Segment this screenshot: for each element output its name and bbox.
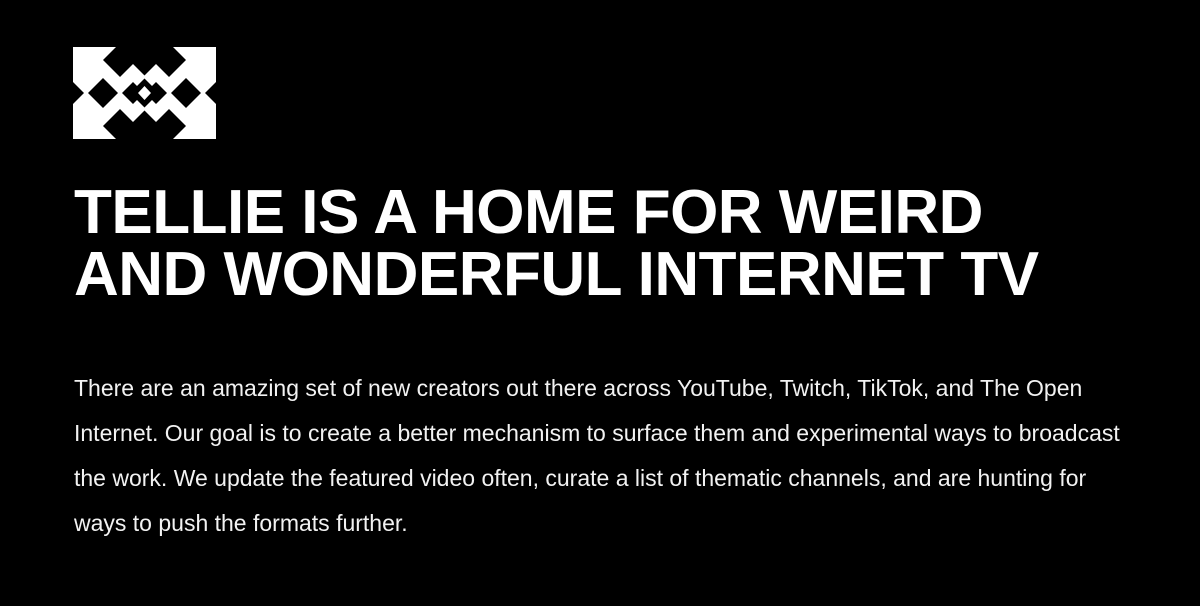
- headline-line-1: TELLIE IS A HOME FOR WEIRD: [74, 182, 1134, 244]
- intro-paragraph: There are an amazing set of new creators…: [74, 366, 1139, 546]
- tellie-logo[interactable]: [73, 47, 216, 139]
- headline-line-2: AND WONDERFUL INTERNET TV: [74, 244, 1134, 306]
- page-title: TELLIE IS A HOME FOR WEIRD AND WONDERFUL…: [74, 182, 1134, 306]
- landing-page: TELLIE IS A HOME FOR WEIRD AND WONDERFUL…: [0, 0, 1200, 606]
- tellie-double-arrow-zigzag-logo: [73, 47, 216, 139]
